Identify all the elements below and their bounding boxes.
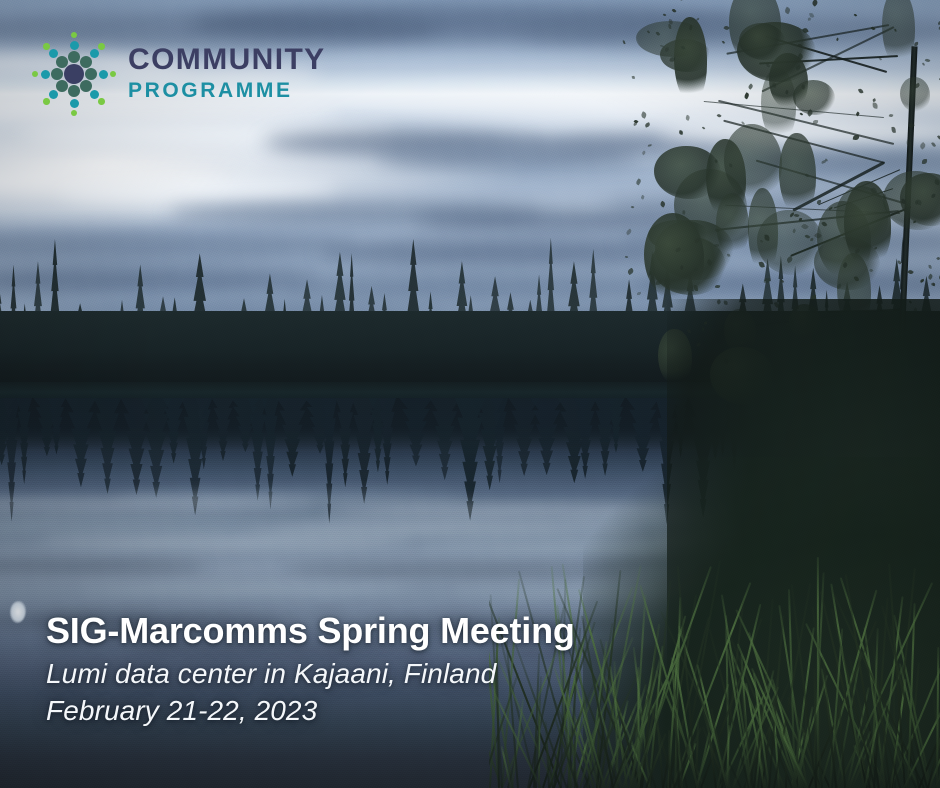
leaf — [892, 127, 896, 133]
leaf — [659, 201, 666, 208]
logo-ray-dot — [43, 43, 50, 50]
event-title: SIG-Marcomms Spring Meeting — [46, 611, 575, 651]
logo-ray-dot — [56, 56, 68, 68]
leaf — [715, 285, 720, 289]
logo-ray-dot — [80, 56, 92, 68]
logo-ray-dot — [56, 80, 68, 92]
logo-ray-dot — [80, 80, 92, 92]
leaf-clump — [716, 193, 749, 256]
community-programme-logo[interactable]: COMMUNITY PROGRAMME — [28, 28, 326, 120]
logo-ray-dot — [98, 43, 105, 50]
leaf — [677, 0, 683, 1]
leaf — [716, 113, 721, 118]
leaf — [781, 279, 784, 282]
leaf — [747, 83, 753, 89]
leaf — [685, 114, 691, 120]
leaf — [934, 179, 939, 185]
event-venue: Lumi data center in Kajaani, Finland — [46, 656, 575, 693]
leaf — [799, 113, 802, 116]
logo-ray-dot — [98, 98, 105, 105]
logo-wordmark: COMMUNITY PROGRAMME — [128, 45, 326, 103]
leaf — [679, 130, 684, 135]
leaf-clump — [900, 77, 931, 113]
logo-ray-dot — [68, 51, 80, 63]
radial-dot-burst-icon — [28, 28, 120, 120]
leaf — [641, 195, 645, 200]
logo-ray-dot — [70, 41, 79, 50]
leaf — [702, 126, 706, 130]
leaf — [640, 111, 647, 118]
leaf — [642, 150, 647, 155]
logo-ray-dot — [43, 98, 50, 105]
leaf — [931, 142, 936, 148]
leaf — [889, 113, 894, 117]
leaf — [931, 283, 935, 287]
leaf — [648, 144, 652, 147]
event-caption: SIG-Marcomms Spring Meeting Lumi data ce… — [46, 611, 575, 730]
leaf — [907, 269, 914, 275]
leaf — [836, 38, 839, 42]
logo-ray-dot — [49, 49, 58, 58]
leaf — [631, 76, 634, 79]
leaf — [744, 93, 750, 100]
logo-ray-dot — [90, 90, 99, 99]
leaf — [858, 88, 864, 95]
leaf — [927, 273, 933, 279]
leaf — [901, 199, 906, 204]
leaf — [922, 62, 925, 65]
logo-ray-dot — [51, 68, 63, 80]
logo-ray-dot — [85, 68, 97, 80]
leaf — [894, 28, 897, 31]
leaf — [853, 134, 859, 140]
leaf — [897, 260, 901, 265]
leaf — [696, 17, 700, 20]
leaf-clump — [793, 80, 835, 115]
leaf — [854, 13, 857, 16]
leaf-clump — [779, 133, 816, 216]
event-dates: February 21-22, 2023 — [46, 693, 575, 730]
logo-ray-dot — [32, 71, 39, 78]
leaf-clump — [739, 23, 786, 60]
leaf — [878, 57, 881, 60]
leaf — [682, 210, 686, 214]
leaf — [808, 18, 811, 21]
leaf — [729, 163, 732, 167]
logo-ray-dot — [99, 70, 108, 79]
logo-ray-dot — [71, 110, 78, 117]
logo-ray-dot — [70, 99, 79, 108]
leaf — [802, 27, 809, 34]
leaf — [928, 265, 932, 269]
leaf — [914, 42, 919, 46]
leaf — [873, 98, 877, 101]
logo-ray-dot — [49, 90, 58, 99]
leaf — [825, 158, 828, 161]
logo-subtitle: PROGRAMME — [128, 80, 326, 101]
leaf — [920, 279, 925, 283]
leaf-clump — [757, 210, 823, 275]
leaf — [721, 40, 724, 43]
leaf — [637, 292, 641, 295]
leaf — [663, 13, 667, 17]
leaf — [922, 159, 927, 164]
logo-ray-dot — [90, 49, 99, 58]
leaf-clump — [882, 0, 914, 66]
logo-ray-dot — [110, 71, 117, 78]
event-title-slide: COMMUNITY PROGRAMME SIG-Marcomms Spring … — [0, 0, 940, 788]
leaf — [873, 102, 879, 108]
leaf — [784, 7, 791, 14]
leaf — [813, 120, 818, 124]
leaf — [811, 0, 819, 7]
logo-ray-dot — [68, 85, 80, 97]
leaf — [645, 122, 651, 128]
leaf — [799, 217, 802, 220]
leaf-clump — [654, 146, 721, 199]
logo-ray-dot — [71, 32, 78, 39]
leaf — [672, 8, 677, 13]
logo-ray-dot — [41, 70, 50, 79]
leaf — [925, 58, 931, 63]
logo-title: COMMUNITY — [128, 45, 326, 75]
leaf — [764, 277, 770, 283]
leaf — [919, 142, 927, 150]
